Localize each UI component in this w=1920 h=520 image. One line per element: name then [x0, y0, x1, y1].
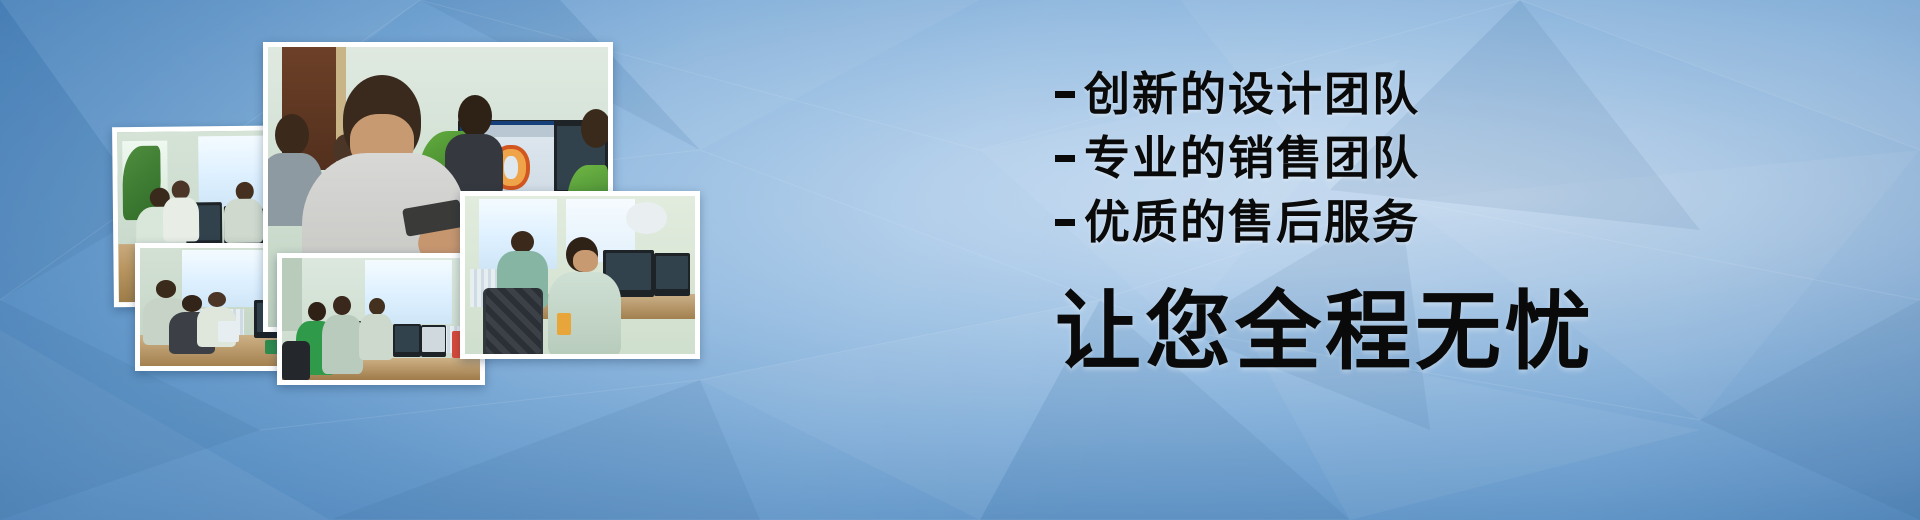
- benefit-list: 创新的设计团队 专业的销售团队 优质的售后服务: [1055, 62, 1695, 254]
- dash-icon: [1055, 219, 1075, 226]
- photo-scene: [465, 196, 695, 354]
- benefit-label: 优质的售后服务: [1084, 190, 1420, 254]
- benefit-label: 专业的销售团队: [1084, 126, 1420, 190]
- benefit-item-sales-team: 专业的销售团队: [1055, 126, 1695, 190]
- collage-photo-bottom-mid: [277, 253, 485, 385]
- collage-photo-right: [460, 191, 700, 359]
- photo-scene: [282, 258, 480, 380]
- benefit-label: 创新的设计团队: [1084, 62, 1420, 126]
- photo-collage: [0, 0, 860, 520]
- dash-icon: [1055, 155, 1075, 162]
- marketing-copy: 创新的设计团队 专业的销售团队 优质的售后服务 让您全程无忧: [1055, 62, 1695, 380]
- benefit-item-after-sales: 优质的售后服务: [1055, 190, 1695, 254]
- dash-icon: [1055, 91, 1075, 98]
- company-banner: 创新的设计团队 专业的销售团队 优质的售后服务 让您全程无忧: [0, 0, 1920, 520]
- banner-headline: 让您全程无忧: [1055, 284, 1695, 380]
- benefit-item-design-team: 创新的设计团队: [1055, 62, 1695, 126]
